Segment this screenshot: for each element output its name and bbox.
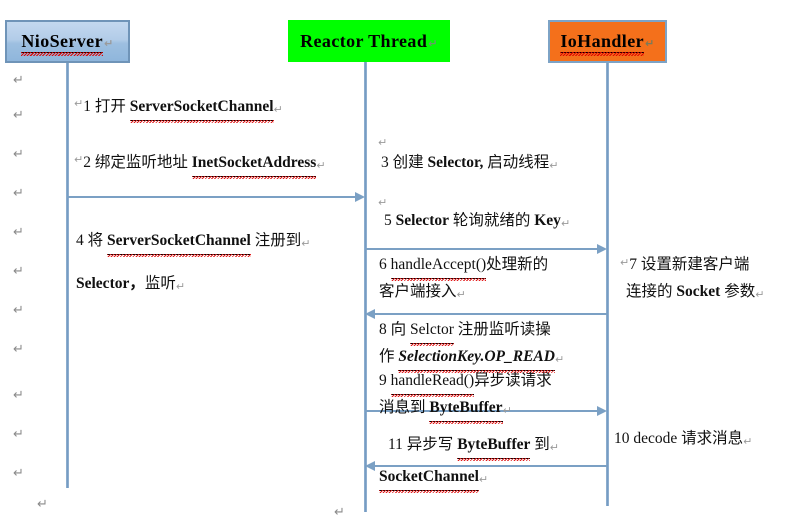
message-text-11-line2: SocketChannel↵ bbox=[379, 464, 488, 491]
paragraph-mark-icon: ↵ bbox=[104, 37, 114, 50]
message-line-4 bbox=[67, 196, 357, 198]
message-text-2: ↵2 绑定监听地址 InetSocketAddress↵ bbox=[74, 150, 326, 177]
paragraph-mark-icon: ↵ bbox=[316, 159, 325, 172]
paragraph-mark-icon: ↵ bbox=[755, 288, 764, 301]
message-7-line2-suffix: 参数 bbox=[720, 283, 755, 300]
message-7-line1: ↵7 设置新建客户端 bbox=[620, 252, 764, 279]
paragraph-mark-icon: ↵ bbox=[37, 497, 48, 512]
message-9-suffix: 异步读请求 bbox=[474, 372, 552, 389]
message-2-code: InetSocketAddress bbox=[192, 150, 317, 177]
message-6-line2-text: 客户端接入 bbox=[379, 283, 457, 300]
paragraph-mark-icon: ↵ bbox=[176, 280, 185, 293]
message-text-11: 11 异步写 ByteBuffer 到↵ bbox=[388, 432, 559, 459]
message-7-line2: 连接的 Socket 参数↵ bbox=[626, 279, 764, 306]
message-9-line2: 消息到 ByteBuffer↵ bbox=[379, 395, 552, 422]
paragraph-mark-icon: ↵ bbox=[561, 217, 570, 230]
message-3-suffix: 启动线程 bbox=[483, 154, 549, 171]
message-9-code: handleRead() bbox=[391, 368, 475, 395]
message-9-line2-prefix: 消息到 bbox=[379, 399, 429, 416]
paragraph-mark-icon: ↵ bbox=[13, 342, 24, 357]
sequence-diagram-canvas: NioServer ↵ Reactor Thread↵ IoHandler ↵ … bbox=[0, 0, 786, 524]
message-4-suffix: 注册到 bbox=[251, 232, 301, 249]
arrow-head-6 bbox=[597, 244, 607, 254]
message-10-code: decode bbox=[633, 430, 677, 447]
paragraph-mark-icon: ↵ bbox=[378, 196, 387, 209]
actor-label-wrap-iohandler: IoHandler bbox=[560, 31, 644, 52]
paragraph-mark-icon: ↵ bbox=[13, 186, 24, 201]
message-7-line2-code: Socket bbox=[676, 283, 720, 300]
arrow-head-11 bbox=[365, 461, 375, 471]
paragraph-mark-icon: ↵ bbox=[13, 388, 24, 403]
paragraph-mark-icon: ↵ bbox=[743, 435, 752, 448]
message-text-4: 4 将 ServerSocketChannel 注册到↵ Selector，监听… bbox=[76, 228, 310, 298]
message-text-6: 6 handleAccept()处理新的 客户端接入↵ bbox=[379, 252, 548, 306]
paragraph-mark-icon: ↵ bbox=[13, 108, 24, 123]
arrow-head-8 bbox=[365, 309, 375, 319]
message-5-code: Selector bbox=[396, 212, 449, 229]
spellcheck-squiggle bbox=[21, 52, 103, 56]
lifeline-reactor bbox=[364, 62, 367, 512]
message-line-8 bbox=[375, 313, 607, 315]
paragraph-mark-icon: ↵ bbox=[550, 441, 559, 454]
actor-label-nioserver: NioServer bbox=[21, 31, 103, 53]
message-2-prefix: 2 绑定监听地址 bbox=[83, 154, 192, 171]
message-10-prefix: 10 bbox=[614, 430, 633, 447]
message-3-code: Selector, bbox=[428, 154, 484, 171]
paragraph-mark-icon: ↵ bbox=[503, 404, 512, 417]
message-8-line1: 8 向 Selctor 注册监听读操 bbox=[379, 317, 564, 344]
message-6-code: handleAccept() bbox=[391, 252, 487, 279]
message-text-8: 8 向 Selctor 注册监听读操 作 SelectionKey.OP_REA… bbox=[379, 317, 564, 371]
message-line-6 bbox=[365, 248, 597, 250]
paragraph-mark-icon: ↵ bbox=[620, 256, 629, 269]
message-4-code: ServerSocketChannel bbox=[107, 228, 251, 255]
message-6-suffix: 处理新的 bbox=[486, 256, 548, 273]
paragraph-mark-icon: ↵ bbox=[74, 153, 83, 166]
message-4-line2-suffix: 监听 bbox=[145, 275, 176, 292]
message-8-code: Selctor bbox=[410, 317, 454, 344]
message-10-suffix: 请求消息 bbox=[677, 430, 743, 447]
spellcheck-squiggle bbox=[560, 52, 644, 56]
paragraph-mark-icon: ↵ bbox=[13, 303, 24, 318]
lifeline-nioserver bbox=[66, 63, 69, 488]
message-5-prefix: 5 bbox=[384, 212, 396, 229]
paragraph-mark-icon: ↵ bbox=[13, 264, 24, 279]
paragraph-mark-icon: ↵ bbox=[74, 97, 83, 110]
message-text-1: ↵1 打开 ServerSocketChannel↵ bbox=[74, 94, 283, 121]
paragraph-mark-icon: ↵ bbox=[274, 103, 283, 116]
paragraph-mark-icon: ↵ bbox=[479, 473, 488, 486]
message-9-line2-code: ByteBuffer bbox=[429, 395, 502, 422]
message-text-5: 5 Selector 轮询就绪的 Key↵ bbox=[384, 208, 570, 235]
message-11-prefix: 11 异步写 bbox=[388, 436, 457, 453]
message-11-line1: 11 异步写 ByteBuffer 到↵ bbox=[388, 432, 559, 459]
message-11-suffix: 到 bbox=[530, 436, 549, 453]
lifeline-iohandler bbox=[606, 63, 609, 506]
message-8-line2-code: SelectionKey.OP_READ bbox=[398, 344, 555, 371]
message-4-line1: 4 将 ServerSocketChannel 注册到↵ bbox=[76, 228, 310, 255]
paragraph-mark-icon: ↵ bbox=[13, 225, 24, 240]
paragraph-mark-icon: ↵ bbox=[549, 159, 558, 172]
message-5-code2: Key bbox=[534, 212, 561, 229]
message-1-code: ServerSocketChannel bbox=[130, 94, 274, 121]
paragraph-mark-icon: ↵ bbox=[645, 37, 655, 50]
message-4-prefix: 4 将 bbox=[76, 232, 107, 249]
message-4-line2-code: Selector， bbox=[76, 275, 145, 292]
message-4-line2: Selector，监听↵ bbox=[76, 271, 310, 298]
arrow-head-4 bbox=[355, 192, 365, 202]
message-11-line2-code: SocketChannel bbox=[379, 464, 479, 491]
actor-box-reactor[interactable]: Reactor Thread↵ bbox=[288, 20, 450, 62]
message-1-prefix: 1 打开 bbox=[83, 98, 130, 115]
message-9-prefix: 9 bbox=[379, 372, 391, 389]
message-8-suffix: 注册监听读操 bbox=[454, 321, 551, 338]
message-9-line1: 9 handleRead()异步读请求 bbox=[379, 368, 552, 395]
actor-label-reactor: Reactor Thread bbox=[300, 31, 427, 52]
paragraph-mark-icon: ↵ bbox=[334, 505, 345, 520]
paragraph-mark-icon: ↵ bbox=[13, 427, 24, 442]
message-6-prefix: 6 bbox=[379, 256, 391, 273]
message-8-line2: 作 SelectionKey.OP_READ↵ bbox=[379, 344, 564, 371]
message-text-3: 3 创建 Selector, 启动线程↵ bbox=[381, 150, 558, 177]
paragraph-mark-icon: ↵ bbox=[555, 353, 564, 366]
message-3-prefix: 3 创建 bbox=[381, 154, 428, 171]
paragraph-mark-icon: ↵ bbox=[13, 466, 24, 481]
message-5-mid: 轮询就绪的 bbox=[449, 212, 534, 229]
arrow-head-9 bbox=[597, 406, 607, 416]
paragraph-mark-icon: ↵ bbox=[457, 288, 466, 301]
message-text-10: 10 decode 请求消息↵ bbox=[614, 426, 752, 453]
paragraph-mark-icon: ↵ bbox=[13, 73, 24, 88]
message-text-9: 9 handleRead()异步读请求 消息到 ByteBuffer↵ bbox=[379, 368, 552, 422]
paragraph-mark-icon: ↵ bbox=[301, 237, 310, 250]
message-6-line2: 客户端接入↵ bbox=[379, 279, 548, 306]
paragraph-mark-icon: ↵ bbox=[428, 37, 438, 50]
paragraph-mark-icon: ↵ bbox=[13, 147, 24, 162]
actor-box-iohandler[interactable]: IoHandler ↵ bbox=[548, 20, 667, 63]
message-7-line2-prefix: 连接的 bbox=[626, 283, 676, 300]
paragraph-mark-icon: ↵ bbox=[378, 136, 387, 149]
actor-label-iohandler: IoHandler bbox=[560, 31, 644, 53]
message-8-line2-prefix: 作 bbox=[379, 348, 398, 365]
actor-box-nioserver[interactable]: NioServer ↵ bbox=[5, 20, 130, 63]
message-8-prefix: 8 向 bbox=[379, 321, 410, 338]
message-text-7: ↵7 设置新建客户端 连接的 Socket 参数↵ bbox=[620, 252, 764, 306]
message-11-code: ByteBuffer bbox=[457, 432, 530, 459]
message-6-line1: 6 handleAccept()处理新的 bbox=[379, 252, 548, 279]
message-7-line1-text: 7 设置新建客户端 bbox=[629, 256, 749, 273]
actor-label-wrap-nioserver: NioServer bbox=[21, 31, 103, 52]
